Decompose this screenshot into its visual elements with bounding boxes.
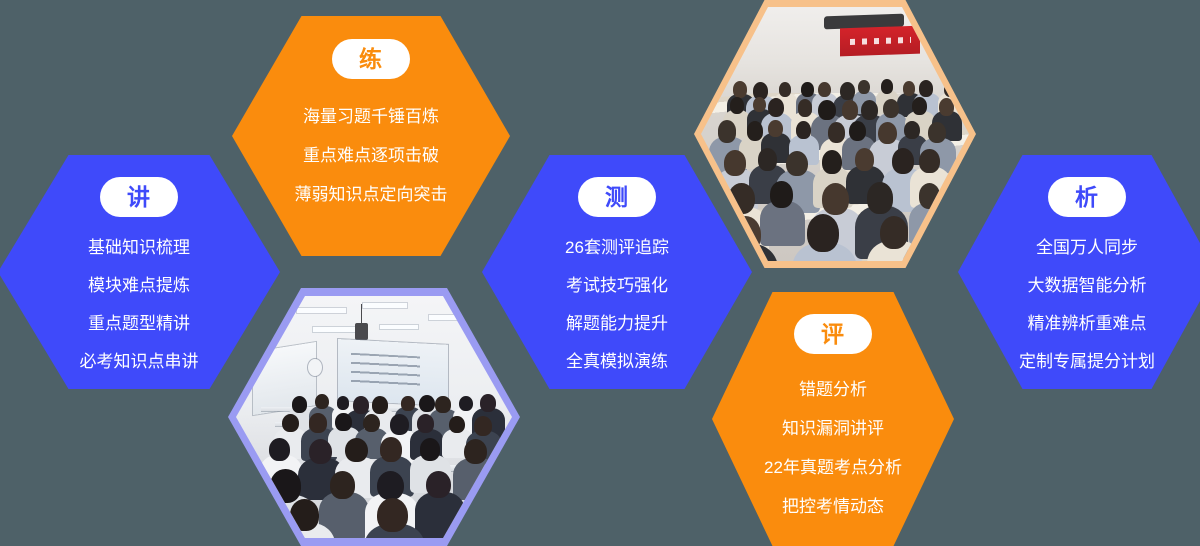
hexagon-lines-xi: 全国万人同步 大数据智能分析 精准辨析重难点 定制专属提分计划: [1019, 239, 1155, 370]
student-head: [270, 469, 300, 502]
hexagon-line: 22年真题考点分析: [764, 459, 902, 476]
student-head: [292, 396, 308, 413]
student-head: [861, 100, 878, 120]
student-head: [269, 438, 290, 461]
photo-frame: [701, 7, 969, 261]
student-head: [724, 150, 746, 176]
hexagon-badge-jiang: 讲: [100, 177, 178, 217]
student-head: [842, 100, 859, 120]
student-head: [372, 396, 388, 414]
student-head: [867, 182, 894, 213]
student-head: [730, 97, 744, 114]
student-head: [390, 414, 409, 435]
student-head: [345, 438, 367, 463]
student-head: [768, 98, 784, 117]
student-head: [449, 416, 465, 433]
student-head: [822, 183, 849, 215]
hexagon-line: 大数据智能分析: [1028, 277, 1147, 294]
hexagon-line: 把控考情动态: [782, 498, 884, 515]
hexagon-lines-ping: 错题分析 知识漏洞讲评 22年真题考点分析 把控考情动态: [764, 381, 902, 515]
hexagon-badge-label: 析: [1075, 186, 1099, 209]
hexagon-line: 海量习题千锤百炼: [303, 108, 439, 125]
student-head: [309, 413, 327, 433]
classroom-exam-hall-photo: [701, 7, 969, 261]
hexagon-lines-lian: 海量习题千锤百炼 重点难点逐项击破 薄弱知识点定向突击: [295, 108, 448, 203]
hexagon-badge-lian: 练: [332, 39, 410, 79]
student-head: [718, 120, 737, 142]
student-head: [420, 438, 440, 460]
student-head: [459, 396, 473, 411]
hexagon-card-xi[interactable]: 析 全国万人同步 大数据智能分析 精准辨析重难点 定制专属提分计划: [958, 155, 1200, 389]
hexagon-line: 模块难点提炼: [88, 277, 190, 294]
student-head: [315, 394, 329, 409]
hexagon-line: 定制专属提分计划: [1019, 353, 1155, 370]
student-torso: [453, 458, 499, 500]
student-torso: [909, 203, 952, 246]
student-head: [855, 148, 874, 171]
student-torso: [415, 492, 465, 538]
student-head: [919, 149, 939, 173]
student-head: [939, 98, 954, 116]
student-head: [337, 396, 349, 410]
lecture-room-photo: [236, 296, 512, 538]
student-head: [733, 81, 747, 98]
student-head: [435, 396, 450, 413]
hexagon-line: 考试技巧强化: [566, 277, 668, 294]
student-head: [828, 122, 846, 143]
student-head: [903, 81, 915, 96]
hexagon-badge-ce: 测: [578, 177, 656, 217]
photo-hexagon-lecture-room: [228, 288, 520, 546]
hexagon-line: 薄弱知识点定向突击: [295, 186, 448, 203]
student-head: [849, 121, 866, 141]
hexagon-line: 错题分析: [799, 381, 867, 398]
student-head: [770, 181, 792, 208]
student-head: [401, 396, 414, 410]
photo-hexagon-exam-hall: [694, 0, 976, 268]
student-head: [377, 498, 408, 532]
hexagon-line: 基础知识梳理: [88, 239, 190, 256]
hexagon-lines-jiang: 基础知识梳理 模块难点提炼 重点题型精讲 必考知识点串讲: [80, 239, 199, 370]
student-head: [818, 82, 831, 97]
student-head: [747, 121, 763, 140]
student-head: [282, 414, 299, 432]
student-head: [904, 121, 919, 139]
hexagon-badge-label: 评: [821, 323, 845, 346]
student-head: [798, 99, 812, 116]
student-head: [786, 151, 808, 177]
student-head: [801, 82, 813, 97]
student-head: [426, 471, 451, 498]
hexagon-badge-ping: 评: [794, 314, 872, 354]
student-head: [878, 122, 897, 145]
hexagon-line: 必考知识点串讲: [80, 353, 199, 370]
hexagon-line: 26套测评追踪: [565, 239, 669, 256]
hexagon-line: 全真模拟演练: [566, 353, 668, 370]
seated-audience: [236, 296, 512, 538]
student-head: [919, 183, 940, 208]
student-head: [796, 121, 811, 139]
student-head: [363, 414, 380, 433]
student-torso: [760, 201, 805, 246]
hexagon-badge-label: 练: [359, 48, 383, 71]
student-head: [480, 394, 496, 412]
photo-frame: [236, 296, 512, 538]
student-head: [377, 471, 404, 500]
student-head: [330, 471, 355, 498]
student-head: [881, 79, 893, 93]
hexagon-card-lian[interactable]: 练 海量习题千锤百炼 重点难点逐项击破 薄弱知识点定向突击: [232, 16, 510, 256]
student-head: [290, 499, 319, 530]
student-head: [728, 183, 755, 214]
student-head: [892, 148, 914, 174]
student-head: [380, 437, 402, 461]
student-head: [353, 396, 369, 414]
hexagon-badge-label: 测: [605, 186, 629, 209]
hexagon-card-ping[interactable]: 评 错题分析 知识漏洞讲评 22年真题考点分析 把控考情动态: [712, 292, 954, 546]
student-head: [883, 99, 899, 118]
student-head: [464, 439, 487, 464]
hexagon-card-ce[interactable]: 测 26套测评追踪 考试技巧强化 解题能力提升 全真模拟演练: [482, 155, 752, 389]
student-head: [753, 97, 766, 112]
student-head: [474, 416, 492, 436]
hexagon-badge-xi: 析: [1048, 177, 1126, 217]
hexagon-line: 精准辨析重难点: [1028, 315, 1147, 332]
student-head: [758, 148, 777, 171]
student-head: [335, 413, 351, 431]
student-head: [807, 214, 839, 252]
student-head: [822, 150, 842, 174]
hexagon-line: 全国万人同步: [1036, 239, 1138, 256]
seated-students: [701, 7, 969, 261]
student-head: [944, 82, 957, 97]
student-head: [768, 120, 783, 137]
hexagon-badge-label: 讲: [127, 186, 151, 209]
hexagon-card-jiang[interactable]: 讲 基础知识梳理 模块难点提炼 重点题型精讲 必考知识点串讲: [0, 155, 280, 389]
hexagon-line: 知识漏洞讲评: [782, 420, 884, 437]
student-head: [818, 100, 835, 120]
hexagon-line: 重点题型精讲: [88, 315, 190, 332]
student-head: [912, 97, 927, 115]
student-head: [858, 80, 870, 94]
student-head: [309, 439, 332, 464]
hexagon-line: 解题能力提升: [566, 315, 668, 332]
student-head: [880, 216, 909, 250]
student-head: [779, 82, 792, 97]
hexagon-line: 重点难点逐项击破: [303, 147, 439, 164]
student-head: [919, 80, 933, 97]
student-head: [928, 122, 946, 143]
hexagon-feature-diagram: 讲 基础知识梳理 模块难点提炼 重点题型精讲 必考知识点串讲 练 海量习题千锤百…: [0, 0, 1200, 546]
hexagon-lines-ce: 26套测评追踪 考试技巧强化 解题能力提升 全真模拟演练: [565, 239, 669, 370]
student-head: [417, 414, 434, 433]
